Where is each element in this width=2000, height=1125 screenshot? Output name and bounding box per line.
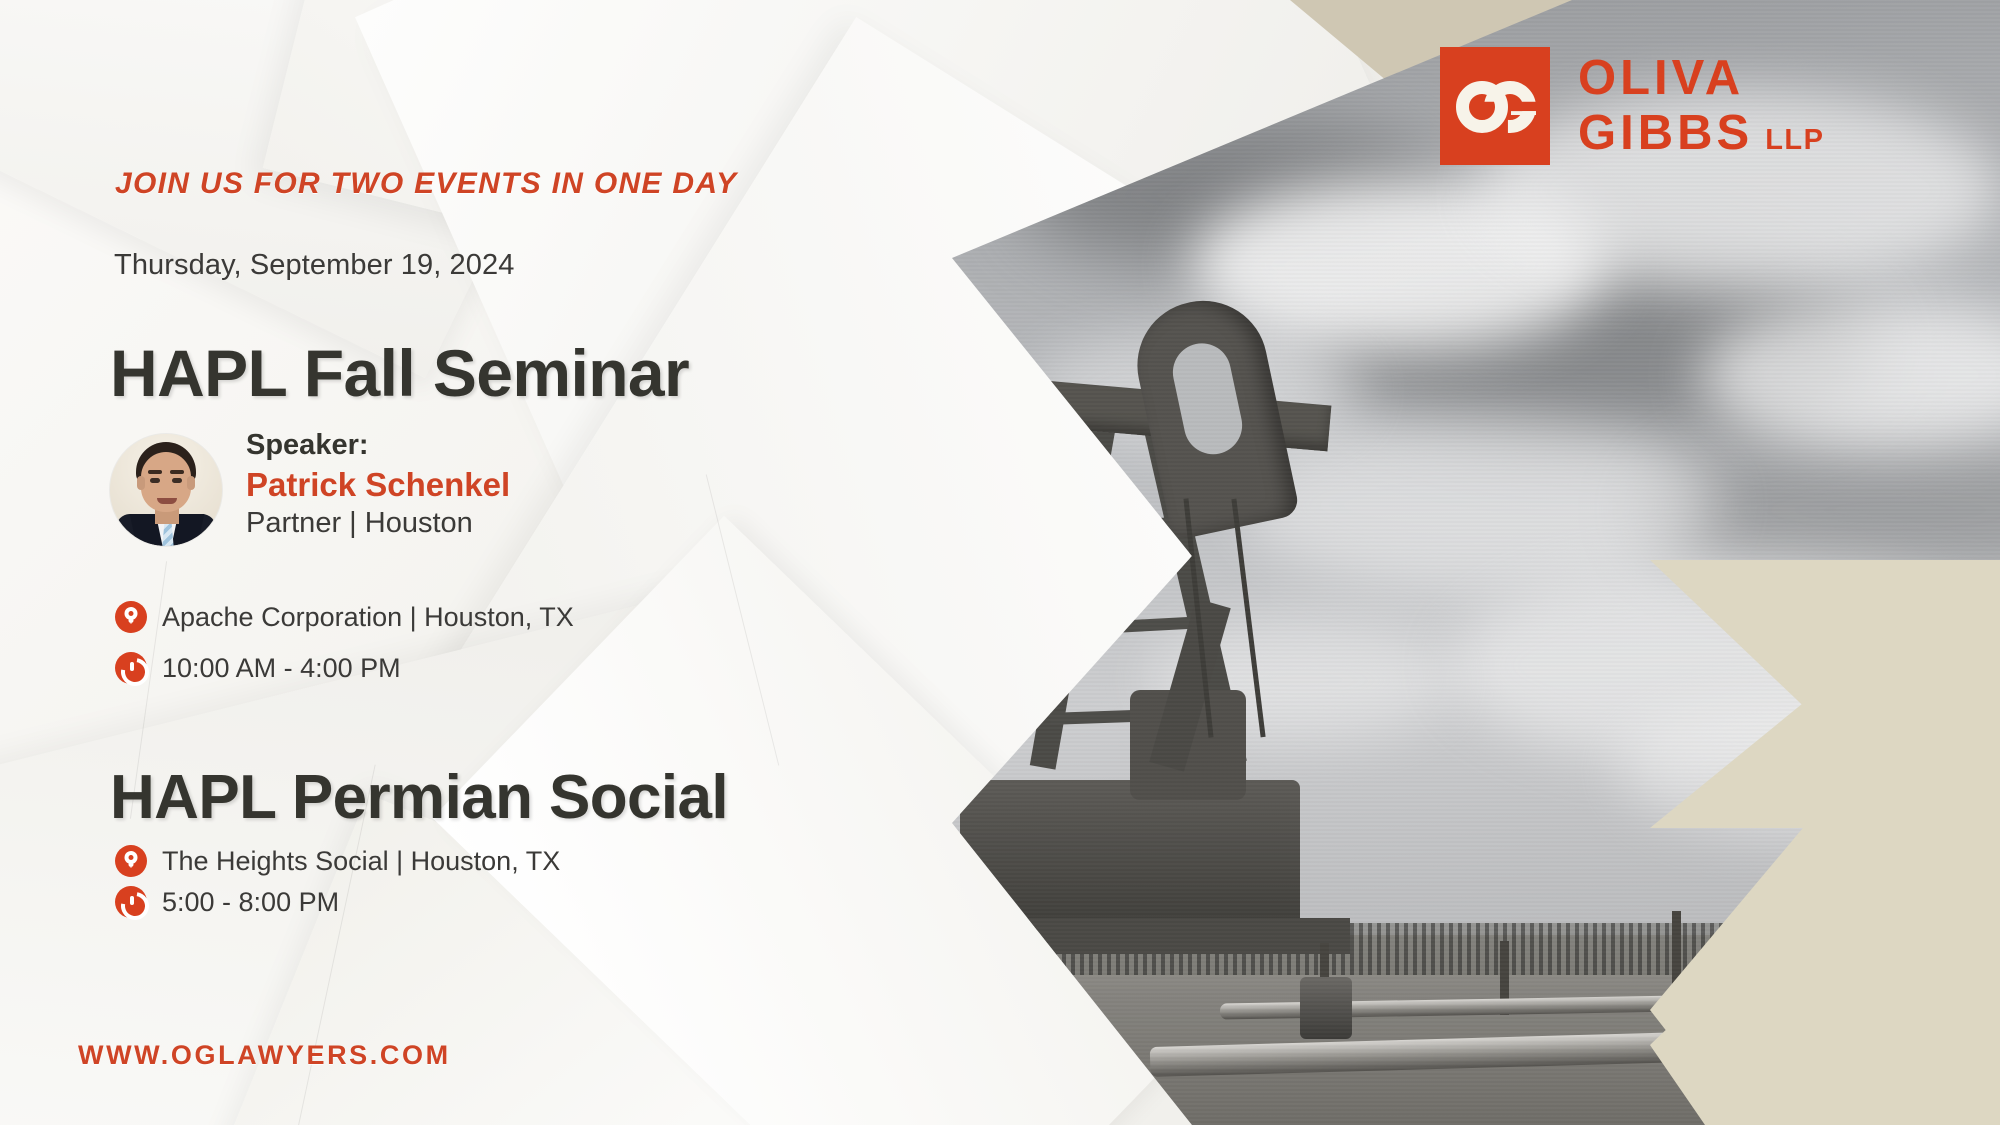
logo-wordmark: OLIVA GIBBS LLP [1578,54,1824,158]
event-date: Thursday, September 19, 2024 [114,249,514,282]
location-pin-icon [115,601,147,633]
oliva-gibbs-logo[interactable]: OLIVA GIBBS LLP [1440,47,1824,165]
social-time-text: 5:00 - 8:00 PM [162,887,339,918]
logo-line-2: GIBBS LLP [1578,109,1824,158]
pipe-valve [1300,977,1352,1039]
logo-gibbs-text: GIBBS [1578,109,1753,158]
speaker-name: Patrick Schenkel [246,465,510,505]
rig-horsehead [1126,289,1301,541]
event-title-social: HAPL Permian Social [110,762,728,833]
event-flyer: OLIVA GIBBS LLP JOIN US FOR TWO EVENTS I… [0,0,2000,1125]
clock-icon [115,652,147,684]
seminar-location-row: Apache Corporation | Houston, TX [115,601,574,633]
seminar-time-text: 10:00 AM - 4:00 PM [162,653,401,684]
social-location-row: The Heights Social | Houston, TX [115,845,560,877]
eyebrow-headline: JOIN US FOR TWO EVENTS IN ONE DAY [115,167,737,201]
seminar-time-row: 10:00 AM - 4:00 PM [115,652,401,684]
speaker-details: Speaker: Patrick Schenkel Partner | Hous… [246,428,510,541]
social-location-text: The Heights Social | Houston, TX [162,846,560,877]
logo-line-1: OLIVA [1578,54,1824,103]
flyer-content: JOIN US FOR TWO EVENTS IN ONE DAY Thursd… [0,0,1000,1125]
event-title-seminar: HAPL Fall Seminar [110,335,689,411]
website-url[interactable]: WWW.OGLAWYERS.COM [78,1040,451,1071]
location-pin-icon [115,845,147,877]
speaker-avatar [110,434,222,546]
clock-icon [115,886,147,918]
seminar-location-text: Apache Corporation | Houston, TX [162,602,574,633]
logo-llp-text: LLP [1765,126,1824,155]
speaker-role: Partner | Houston [246,506,510,541]
speaker-label: Speaker: [246,428,510,463]
social-time-row: 5:00 - 8:00 PM [115,886,339,918]
og-monogram-icon [1440,47,1550,165]
